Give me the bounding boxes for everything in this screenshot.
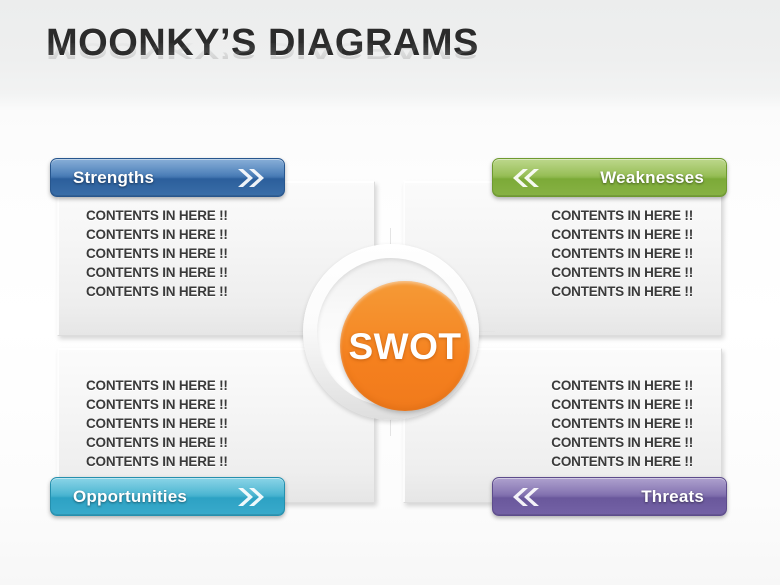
content-line: CONTENTS IN HERE !! bbox=[551, 452, 693, 471]
title-area: MOONKY’S DIAGRAMS MOONKY’S DIAGRAMS bbox=[0, 0, 780, 98]
banner-opportunities[interactable]: Opportunities bbox=[50, 477, 285, 516]
content-line: CONTENTS IN HERE !! bbox=[551, 225, 693, 244]
content-line: CONTENTS IN HERE !! bbox=[551, 433, 693, 452]
content-line: CONTENTS IN HERE !! bbox=[86, 395, 228, 414]
content-line: CONTENTS IN HERE !! bbox=[86, 206, 228, 225]
hub-inner-ring: SWOT bbox=[317, 258, 465, 406]
content-line: CONTENTS IN HERE !! bbox=[551, 414, 693, 433]
chevron-double-right-icon bbox=[236, 486, 266, 508]
banner-weaknesses[interactable]: Weaknesses bbox=[492, 158, 727, 197]
chevron-double-right-icon bbox=[236, 167, 266, 189]
page-title: MOONKY’S DIAGRAMS bbox=[46, 24, 479, 62]
banner-weaknesses-label: Weaknesses bbox=[600, 168, 704, 188]
content-line: CONTENTS IN HERE !! bbox=[551, 263, 693, 282]
panel-weaknesses-contents: CONTENTS IN HERE !! CONTENTS IN HERE !! … bbox=[551, 206, 693, 301]
panel-strengths-contents: CONTENTS IN HERE !! CONTENTS IN HERE !! … bbox=[86, 206, 228, 301]
hub-circle[interactable]: SWOT bbox=[340, 281, 470, 411]
content-line: CONTENTS IN HERE !! bbox=[86, 244, 228, 263]
banner-strengths[interactable]: Strengths bbox=[50, 158, 285, 197]
panel-opportunities-contents: CONTENTS IN HERE !! CONTENTS IN HERE !! … bbox=[86, 376, 228, 471]
content-line: CONTENTS IN HERE !! bbox=[86, 452, 228, 471]
chevron-double-left-icon bbox=[511, 486, 541, 508]
content-line: CONTENTS IN HERE !! bbox=[86, 263, 228, 282]
content-line: CONTENTS IN HERE !! bbox=[551, 395, 693, 414]
content-line: CONTENTS IN HERE !! bbox=[551, 206, 693, 225]
banner-opportunities-label: Opportunities bbox=[73, 487, 187, 507]
content-line: CONTENTS IN HERE !! bbox=[551, 244, 693, 263]
hub-outer-ring: SWOT bbox=[303, 244, 479, 420]
hub-label: SWOT bbox=[349, 328, 462, 365]
content-line: CONTENTS IN HERE !! bbox=[551, 282, 693, 301]
banner-threats[interactable]: Threats bbox=[492, 477, 727, 516]
content-line: CONTENTS IN HERE !! bbox=[86, 376, 228, 395]
banner-threats-label: Threats bbox=[641, 487, 704, 507]
content-line: CONTENTS IN HERE !! bbox=[551, 376, 693, 395]
content-line: CONTENTS IN HERE !! bbox=[86, 433, 228, 452]
chevron-double-left-icon bbox=[511, 167, 541, 189]
swot-center-hub[interactable]: SWOT bbox=[303, 244, 479, 420]
content-line: CONTENTS IN HERE !! bbox=[86, 225, 228, 244]
panel-threats-contents: CONTENTS IN HERE !! CONTENTS IN HERE !! … bbox=[551, 376, 693, 471]
content-line: CONTENTS IN HERE !! bbox=[86, 414, 228, 433]
banner-strengths-label: Strengths bbox=[73, 168, 154, 188]
content-line: CONTENTS IN HERE !! bbox=[86, 282, 228, 301]
